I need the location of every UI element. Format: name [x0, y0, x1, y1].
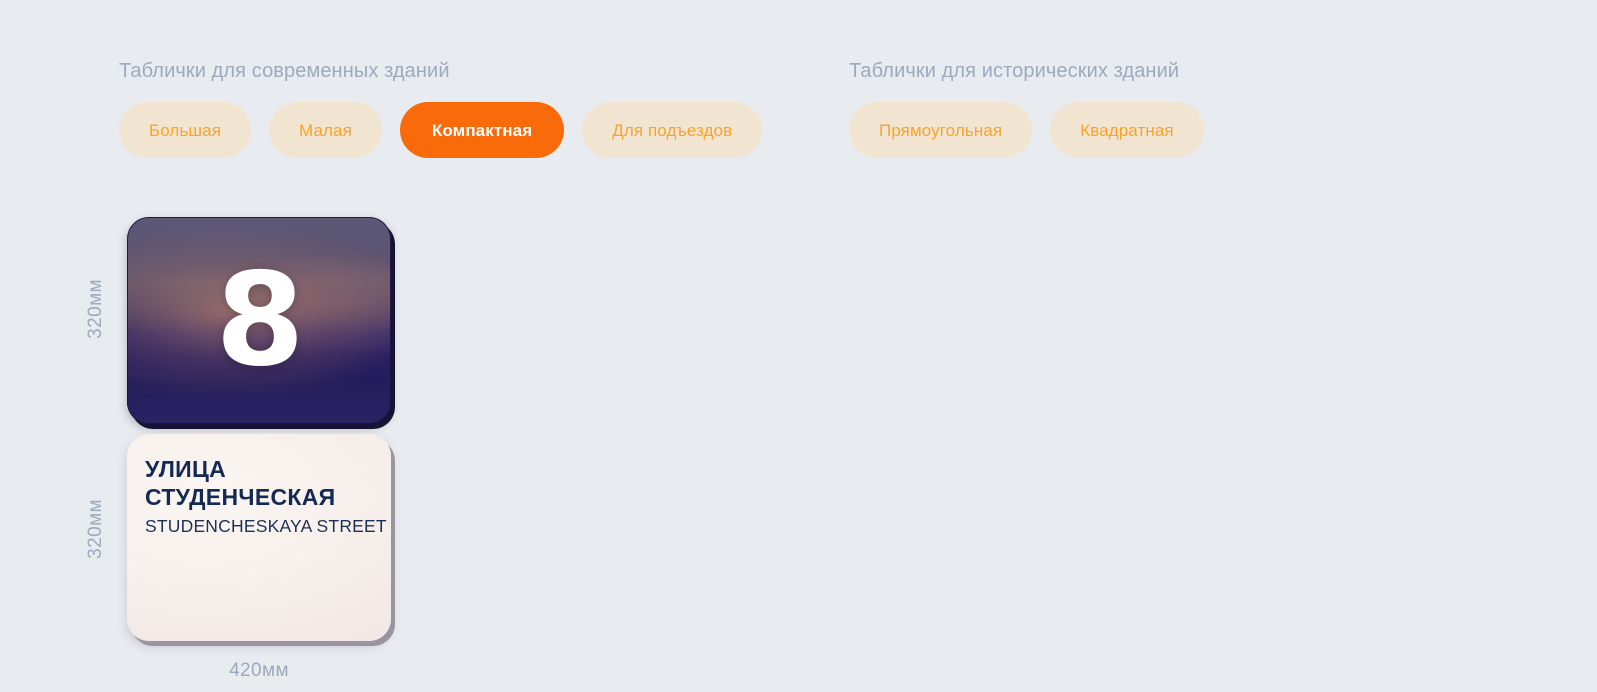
option-pill-pryamougolnaya[interactable]: Прямоугольная	[849, 102, 1032, 158]
dimension-label-width: 420мм	[229, 660, 289, 682]
option-pill-kvadratnaya[interactable]: Квадратная	[1050, 102, 1204, 158]
option-pill-kompaktnaya[interactable]: Компактная	[400, 102, 564, 158]
group-title-historic: Таблички для исторических зданий	[849, 58, 1204, 84]
street-name-ru-line1: УЛИЦА	[145, 456, 371, 484]
house-number-plate[interactable]: 8	[127, 217, 391, 424]
dimension-label-number-height: 320мм	[85, 279, 107, 339]
option-pills-historic: Прямоугольная Квадратная	[849, 102, 1204, 158]
option-pills-modern: Большая Малая Компактная Для подъездов	[119, 102, 762, 158]
street-name-plate[interactable]: УЛИЦА СТУДЕНЧЕСКАЯ STUDENCHESKAYA STREET	[127, 434, 391, 641]
option-pill-malaya[interactable]: Малая	[269, 102, 382, 158]
house-number-text: 8	[127, 217, 391, 424]
sign-configurator: Таблички для современных зданий Большая …	[0, 0, 1597, 692]
sign-preview: 320мм 320мм 8 УЛИЦА СТУДЕНЧЕСКАЯ STUDENC…	[127, 217, 391, 641]
street-name-ru-line2: СТУДЕНЧЕСКАЯ	[145, 484, 371, 512]
option-group-historic: Таблички для исторических зданий Прямоуг…	[849, 58, 1204, 158]
option-group-modern: Таблички для современных зданий Большая …	[119, 58, 762, 158]
street-name-en: STUDENCHESKAYA STREET	[145, 516, 371, 537]
dimension-label-street-height: 320мм	[85, 499, 107, 559]
option-pill-dlya-podezdov[interactable]: Для подъездов	[582, 102, 762, 158]
option-pill-bolshaya[interactable]: Большая	[119, 102, 251, 158]
group-title-modern: Таблички для современных зданий	[119, 58, 762, 84]
